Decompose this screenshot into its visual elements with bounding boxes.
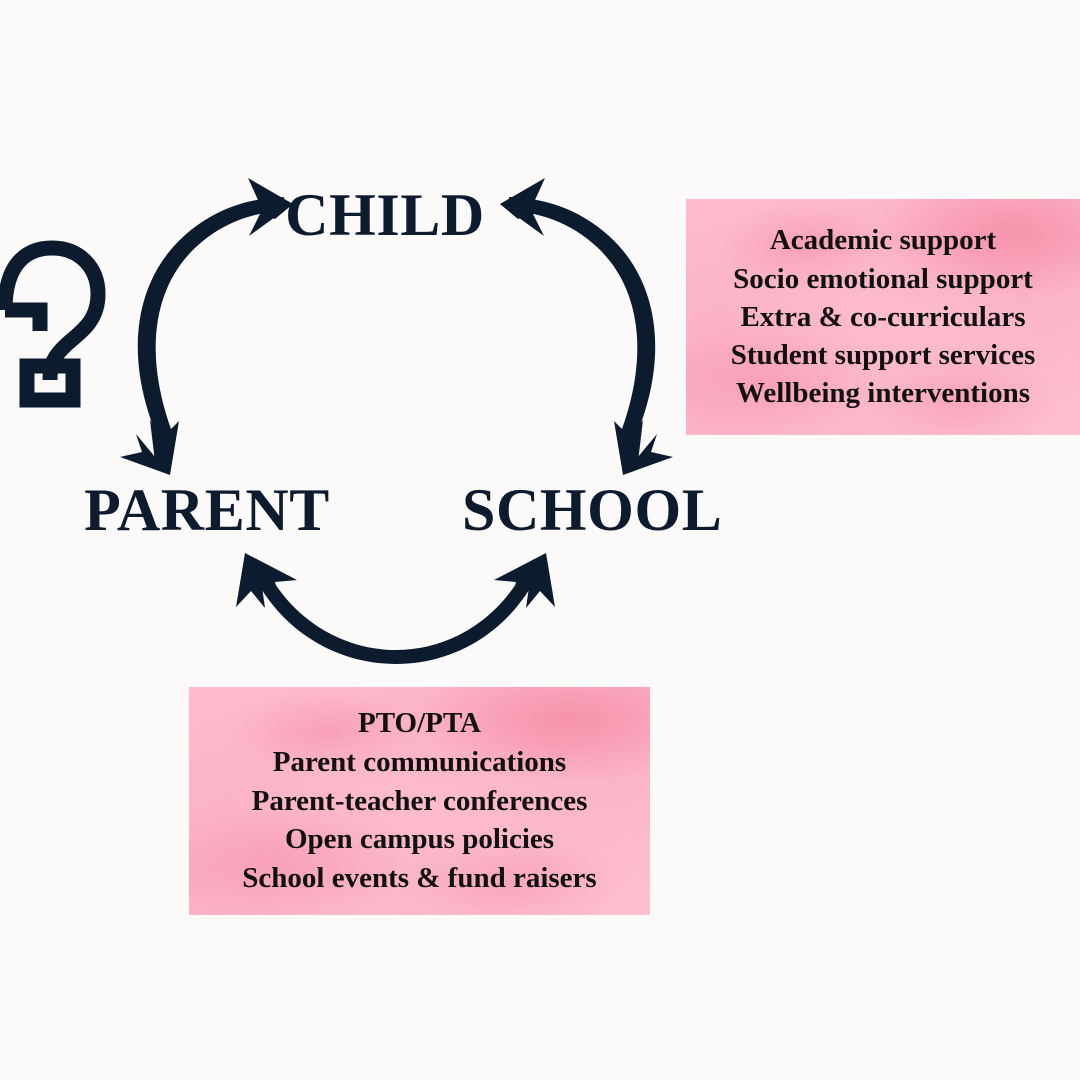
school-contribution-item: Wellbeing interventions	[736, 374, 1030, 412]
parent-school-links-panel: PTO/PTA Parent communications Parent-tea…	[189, 687, 650, 915]
school-contributions-panel: Academic support Socio emotional support…	[686, 199, 1080, 435]
diagram-canvas: CHILD PARENT SCHOOL Academic support Soc…	[0, 0, 1080, 1080]
parent-school-link-item: School events & fund raisers	[242, 859, 596, 898]
node-label-parent: PARENT	[0, 480, 414, 540]
school-contribution-item: Socio emotional support	[733, 260, 1033, 298]
question-mark-icon	[5, 248, 98, 400]
parent-school-arrow	[236, 553, 555, 664]
school-contribution-item: Academic support	[770, 221, 996, 259]
parent-school-link-item: Open campus policies	[285, 820, 554, 859]
parent-school-link-item: Parent communications	[273, 743, 566, 782]
node-label-school: SCHOOL	[462, 480, 688, 540]
parent-school-link-item: Parent-teacher conferences	[252, 782, 588, 821]
school-contribution-item: Student support services	[731, 336, 1036, 374]
school-contribution-item: Extra & co-curriculars	[740, 298, 1025, 336]
parent-school-link-item: PTO/PTA	[358, 704, 481, 743]
